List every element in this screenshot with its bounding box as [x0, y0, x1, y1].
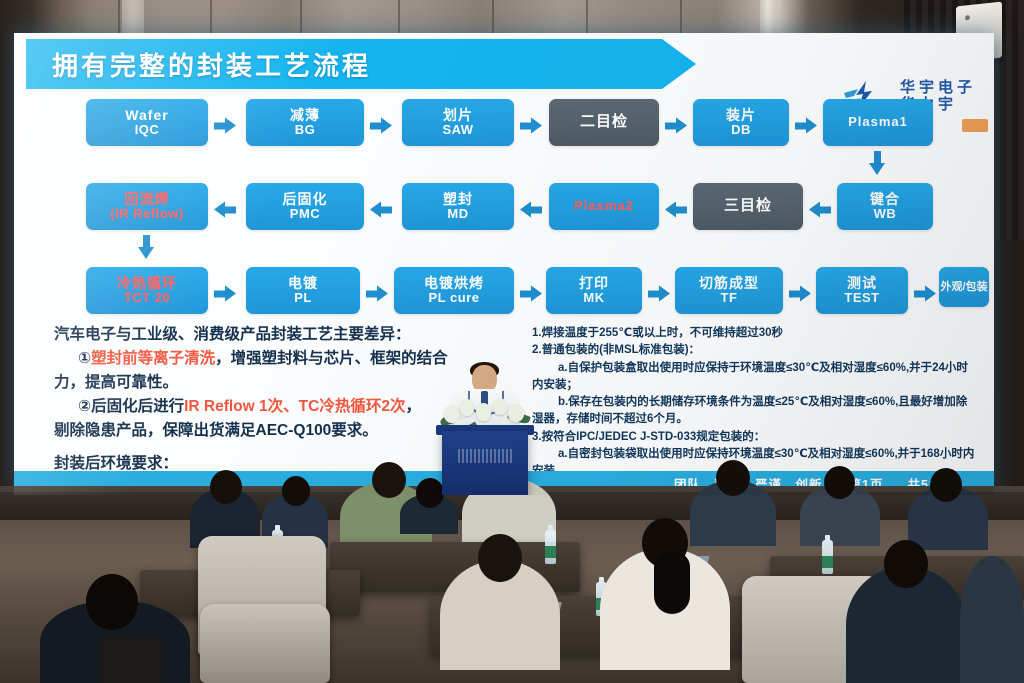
flow-node: 切筋成型 TF	[675, 267, 783, 314]
right-line-2: 2.普通包装的(非MSL标准包装)：	[532, 342, 984, 359]
flow-node: 二目检	[549, 99, 659, 146]
flow-node: Wafer IQC	[86, 99, 208, 146]
arrow-right-icon	[665, 118, 687, 135]
arrow-right-icon	[520, 286, 542, 303]
brand-cn-line1: 华宇电子	[900, 80, 976, 97]
arrow-left-icon	[520, 202, 542, 219]
flow-row-1: Wafer IQC 减薄 BG 划片 SAW 二目检	[14, 99, 994, 153]
node-line1: 二目检	[580, 114, 628, 131]
left-item-2-emphasis: IR Reflow 1次、TC冷热循环2次	[184, 398, 405, 415]
node-line1: 减薄	[290, 108, 320, 123]
slide-title-ribbon: 拥有完整的封装工艺流程	[26, 39, 696, 89]
arrow-right-icon	[795, 118, 817, 135]
flow-node: 冷热循环 TCT 20	[86, 267, 208, 314]
chair	[200, 604, 330, 683]
water-bottle	[822, 540, 833, 574]
flow-node: 打印 MK	[546, 267, 642, 314]
node-line1: Plasma2	[574, 199, 634, 213]
audience-head	[884, 540, 928, 588]
process-flowchart: Wafer IQC 减薄 BG 划片 SAW 二目检	[14, 99, 994, 324]
flow-node: 减薄 BG	[246, 99, 364, 146]
audience-person	[960, 556, 1024, 683]
right-line-2a-cont: 内安装；	[532, 377, 984, 394]
right-line-1: 1.焊接温度于255℃或以上时，不可维持超过30秒	[532, 325, 984, 342]
node-line1: 外观/包装	[940, 281, 987, 293]
node-line1: Plasma1	[848, 115, 908, 129]
conference-room-photo: 拥有完整的封装工艺流程 HiSEMi 华宇电子 华力宇 Waf	[0, 0, 1024, 683]
node-line1: 键合	[870, 192, 900, 207]
arrow-right-icon	[370, 118, 392, 135]
flow-node: 塑封 MD	[402, 183, 514, 230]
audience-head	[930, 468, 962, 502]
node-line2: BG	[295, 123, 316, 137]
arrow-down-icon	[138, 235, 155, 259]
node-line1: Wafer	[125, 108, 168, 123]
right-line-2b: b.保存在包装内的长期储存环境条件为温度≤25℃及相对湿度≤60%,且最好增加除	[532, 394, 984, 411]
water-bottle	[545, 530, 556, 564]
audience-hair-bun	[654, 552, 690, 614]
arrow-left-icon	[809, 202, 831, 219]
arrow-right-icon	[520, 118, 542, 135]
arrow-right-icon	[914, 286, 936, 303]
arrow-right-icon	[366, 286, 388, 303]
node-line1: 冷热循环	[117, 276, 177, 291]
arrow-left-icon	[665, 202, 687, 219]
flow-node: 回流焊 (IR Reflow)	[86, 183, 208, 230]
node-line2: DB	[731, 123, 751, 137]
flow-row-3: 冷热循环 TCT 20 电镀 PL 电镀烘烤 PL cure 打印 MK	[14, 267, 994, 321]
arrow-right-icon	[214, 118, 236, 135]
node-line2: SAW	[442, 123, 473, 137]
right-line-3a: a.自密封包装袋取出使用时应保持环境温度≤30℃及相对湿度≤60%,并于168小…	[532, 446, 984, 463]
flow-node: 电镀 PL	[246, 267, 360, 314]
arrow-right-icon	[789, 286, 811, 303]
node-line1: 后固化	[283, 192, 328, 207]
left-item-1-emphasis: 塑封前等离子清洗	[91, 350, 215, 367]
flow-node: 电镀烘烤 PL cure	[394, 267, 514, 314]
audience-head	[282, 476, 310, 506]
node-line2: TCT 20	[124, 291, 170, 305]
node-line1: 切筋成型	[699, 276, 759, 291]
flow-node: 后固化 PMC	[246, 183, 364, 230]
projection-screen: 拥有完整的封装工艺流程 HiSEMi 华宇电子 华力宇 Waf	[14, 33, 994, 495]
audience-head	[86, 574, 138, 630]
right-line-3: 3.按符合IPC/JEDEC J-STD-033规定包装的：	[532, 429, 984, 446]
left-heading-1: 汽车电子与工业级、消费级产品封装工艺主要差异：	[54, 323, 504, 347]
node-line1: 装片	[726, 108, 756, 123]
audience-head	[824, 466, 855, 499]
flow-node: 测试 TEST	[816, 267, 908, 314]
flow-node: 三目检	[693, 183, 803, 230]
node-line2: WB	[874, 207, 897, 221]
flow-row-2: 回流焊 (IR Reflow) 后固化 PMC 塑封 MD Plasma2	[14, 183, 994, 237]
podium-body	[442, 431, 528, 495]
bag	[100, 636, 162, 683]
arrow-left-icon	[370, 202, 392, 219]
flow-node: 划片 SAW	[402, 99, 514, 146]
arrow-right-icon	[648, 286, 670, 303]
node-line2: MK	[583, 291, 604, 305]
node-line1: 三目检	[724, 198, 772, 215]
arrow-right-icon	[214, 286, 236, 303]
node-line2: IQC	[135, 123, 160, 137]
slide-title: 拥有完整的封装工艺流程	[52, 46, 371, 83]
flow-node: Plasma2	[549, 183, 659, 230]
node-line2: TF	[721, 291, 738, 305]
right-line-2b-cont: 湿器，存储时间不超过6个月。	[532, 411, 984, 428]
right-text-block: 1.焊接温度于255℃或以上时，不可维持超过30秒 2.普通包装的(非MSL标准…	[532, 325, 984, 495]
node-line1: 电镀	[288, 276, 318, 291]
node-line1: 测试	[847, 276, 877, 291]
node-line1: 电镀烘烤	[424, 276, 484, 291]
arrow-left-icon	[214, 202, 236, 219]
podium-with-speaker	[432, 363, 536, 495]
node-line2: PMC	[290, 207, 320, 221]
audience-head	[478, 534, 522, 582]
node-line2: TEST	[844, 291, 879, 305]
node-line1: 塑封	[443, 192, 473, 207]
flow-node: Plasma1	[823, 99, 933, 146]
audience-head	[716, 460, 750, 496]
flow-node: 键合 WB	[837, 183, 933, 230]
right-line-2a: a.自保护包装盒取出使用时应保持于环境温度≤30℃及相对湿度≤60%,并于24小…	[532, 360, 984, 377]
flow-node: 外观/包装	[939, 267, 989, 307]
node-line1: 打印	[579, 276, 609, 291]
node-line2: MD	[447, 207, 468, 221]
audience-head	[210, 470, 242, 504]
node-line2: PL cure	[429, 291, 480, 305]
flow-node: 装片 DB	[693, 99, 789, 146]
node-line1: 划片	[443, 108, 473, 123]
node-line2: (IR Reflow)	[110, 207, 183, 221]
arrow-down-icon	[869, 151, 886, 175]
node-line2: PL	[294, 291, 312, 305]
node-line1: 回流焊	[125, 192, 170, 207]
audience-head	[372, 462, 406, 498]
